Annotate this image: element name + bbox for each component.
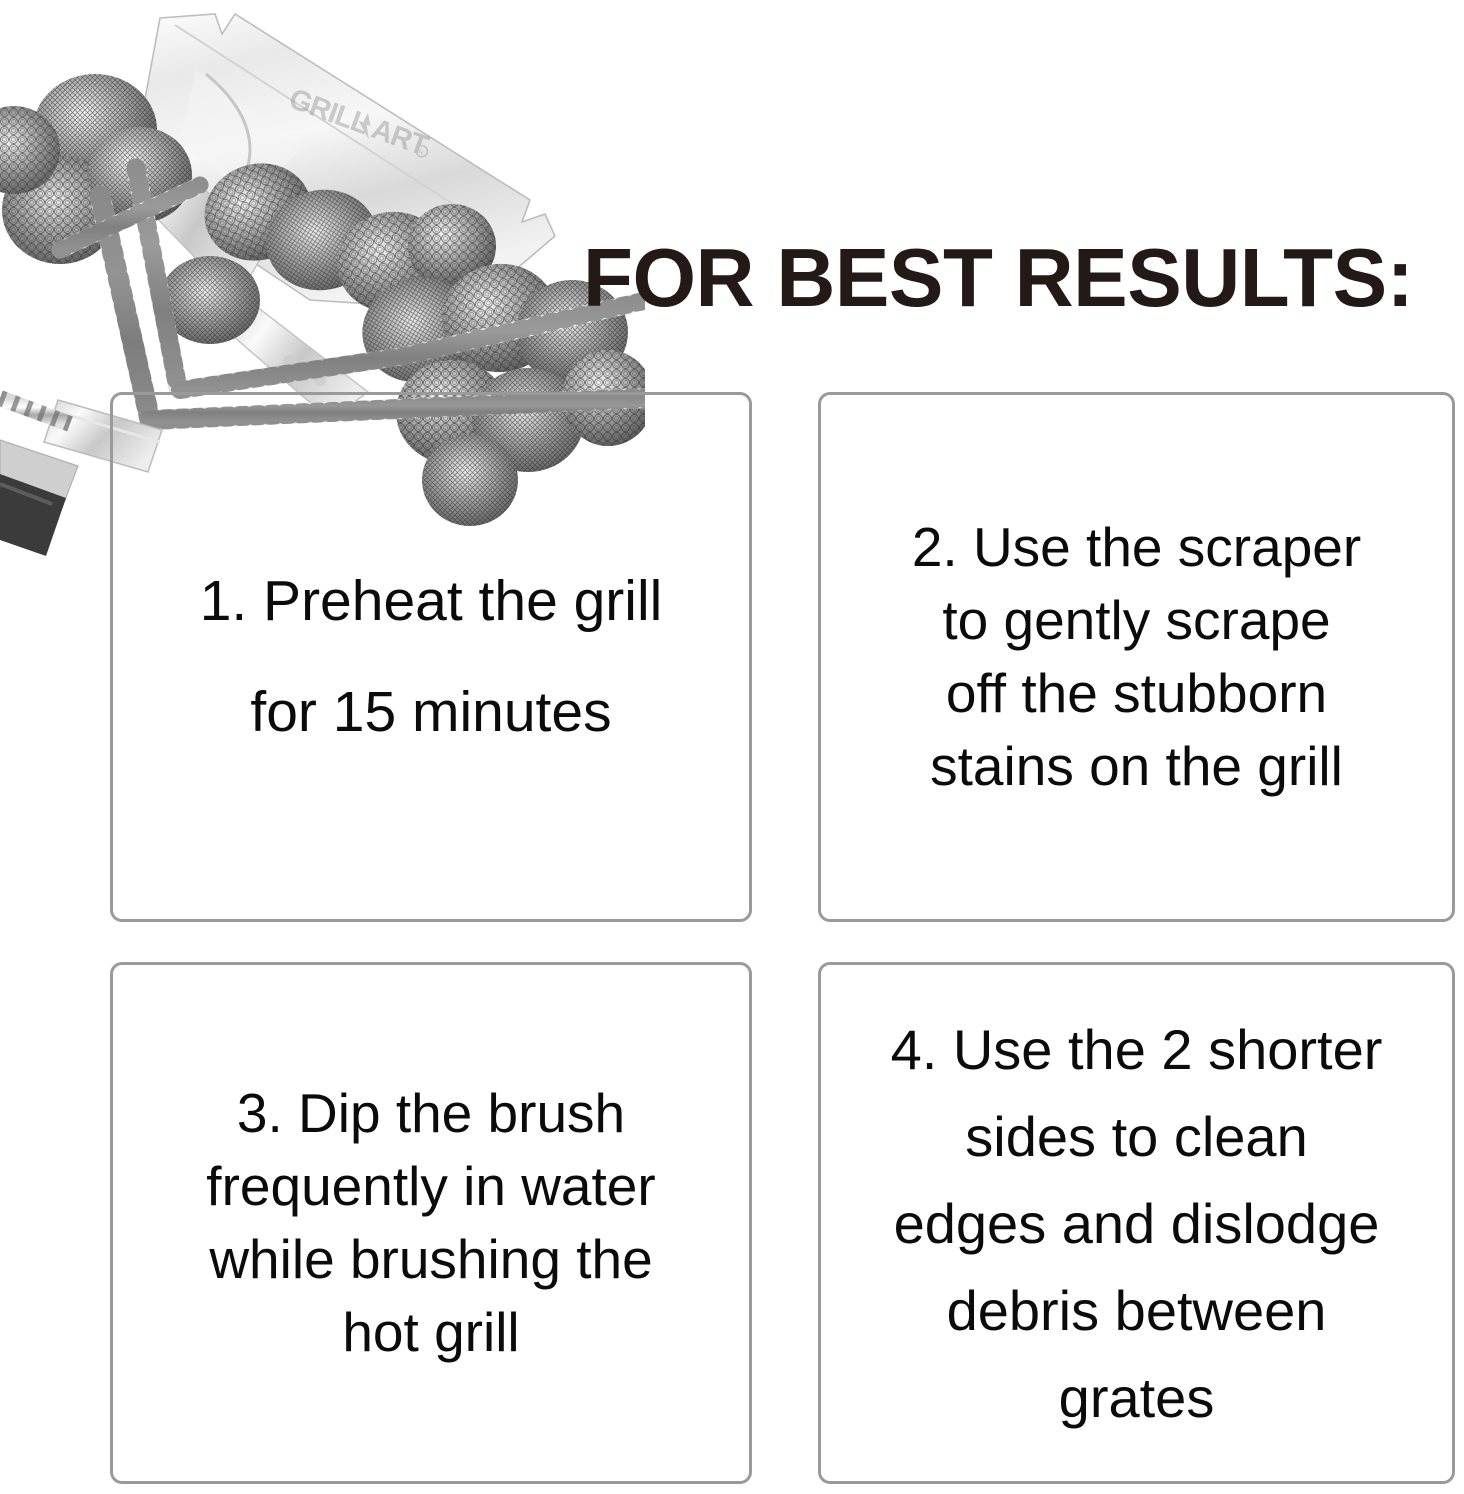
step-4-line-1: 4. Use the 2 shorter [891,1006,1383,1093]
step-1-line-1: 1. Preheat the grill [200,546,663,657]
step-3-line-2: frequently in water [206,1150,655,1223]
step-4-line-3: edges and dislodge [891,1180,1383,1267]
step-4-text: 4. Use the 2 shorter sides to clean edge… [873,1006,1401,1441]
step-box-3: 3. Dip the brush frequently in water whi… [110,962,752,1484]
step-2-line-1: 2. Use the scraper [912,511,1361,584]
page-title: FOR BEST RESULTS: [583,234,1430,322]
step-2-line-3: off the stubborn [912,657,1361,730]
step-2-line-2: to gently scrape [912,584,1361,657]
step-box-4: 4. Use the 2 shorter sides to clean edge… [818,962,1455,1484]
step-1-text: 1. Preheat the grill for 15 minutes [182,546,681,768]
step-box-2: 2. Use the scraper to gently scrape off … [818,392,1455,922]
step-4-line-5: grates [891,1354,1383,1441]
step-4-line-2: sides to clean [891,1093,1383,1180]
step-1-line-2: for 15 minutes [200,657,663,768]
steps-grid: 1. Preheat the grill for 15 minutes 2. U… [110,392,1455,1484]
step-3-text: 3. Dip the brush frequently in water whi… [188,1077,673,1369]
step-2-text: 2. Use the scraper to gently scrape off … [894,511,1379,803]
step-3-line-1: 3. Dip the brush [206,1077,655,1150]
step-3-line-4: hot grill [206,1296,655,1369]
step-2-line-4: stains on the grill [912,730,1361,803]
step-box-1: 1. Preheat the grill for 15 minutes [110,392,752,922]
step-4-line-4: debris between [891,1267,1383,1354]
step-3-line-3: while brushing the [206,1223,655,1296]
